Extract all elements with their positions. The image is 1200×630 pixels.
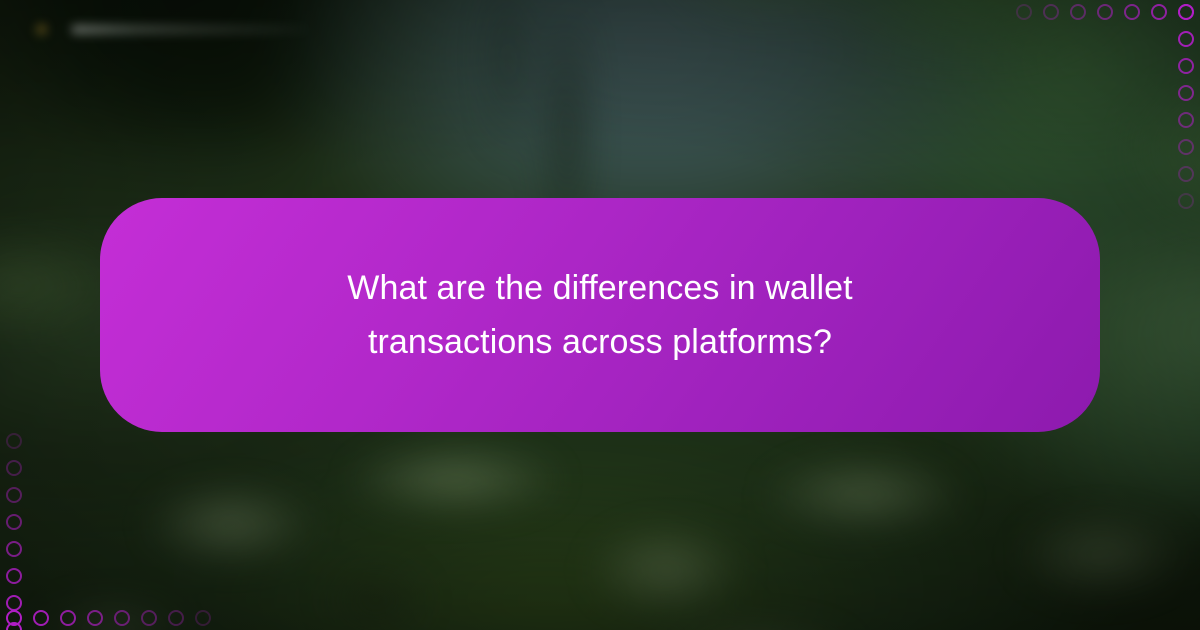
decorative-ring xyxy=(1178,193,1194,209)
decorative-ring xyxy=(6,568,22,584)
decorative-ring xyxy=(1178,166,1194,182)
decorative-ring xyxy=(1178,85,1194,101)
blurred-hud-text xyxy=(36,22,308,38)
hud-text-blur xyxy=(72,25,308,34)
decorative-ring xyxy=(1151,4,1167,20)
decorative-ring xyxy=(1178,112,1194,128)
decorative-ring xyxy=(6,460,22,476)
question-card: What are the differences in wallet trans… xyxy=(100,198,1100,432)
decorative-ring xyxy=(1124,4,1140,20)
decorative-ring xyxy=(6,541,22,557)
decorative-ring xyxy=(6,433,22,449)
decorative-ring xyxy=(87,610,103,626)
decorative-ring xyxy=(1043,4,1059,20)
decorative-ring xyxy=(114,610,130,626)
decorative-ring xyxy=(1016,4,1032,20)
decorative-ring xyxy=(6,487,22,503)
decorative-ring xyxy=(6,514,22,530)
decorative-ring xyxy=(1097,4,1113,20)
hud-icon xyxy=(36,24,47,35)
decorative-ring xyxy=(1178,4,1194,20)
question-card-graphic: What are the differences in wallet trans… xyxy=(0,0,1200,630)
decorative-ring xyxy=(141,610,157,626)
decorative-ring xyxy=(1070,4,1086,20)
decorative-ring xyxy=(168,610,184,626)
decorative-ring xyxy=(6,595,22,611)
decorative-ring xyxy=(6,610,22,626)
decorative-ring xyxy=(33,610,49,626)
question-text: What are the differences in wallet trans… xyxy=(290,261,910,369)
decorative-ring xyxy=(195,610,211,626)
decorative-ring xyxy=(1178,31,1194,47)
decorative-ring xyxy=(1178,58,1194,74)
decorative-ring xyxy=(1178,139,1194,155)
decorative-ring xyxy=(60,610,76,626)
